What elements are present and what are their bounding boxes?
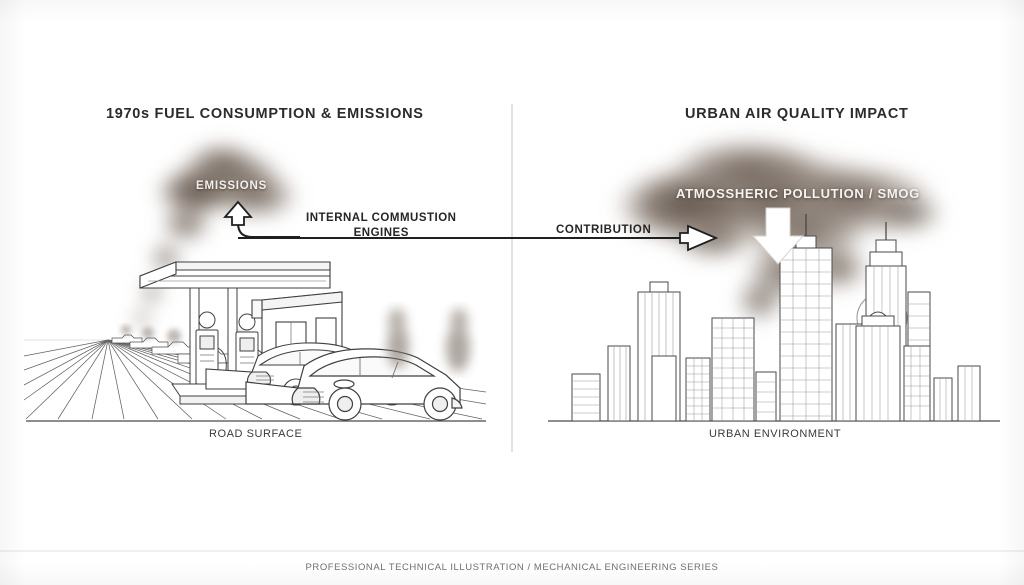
left-panel-title: 1970s FUEL CONSUMPTION & EMISSIONS [106,106,424,122]
right-panel-title: URBAN AIR QUALITY IMPACT [685,106,909,122]
right-scene [548,136,1000,421]
urban-environment-label: URBAN ENVIRONMENT [709,428,841,440]
footer-caption: PROFESSIONAL TECHNICAL ILLUSTRATION / ME… [0,562,1024,573]
contribution-label: CONTRIBUTION [556,224,651,236]
atmospheric-pollution-label: ATMOSSHERIC POLLUTION / SMOG [676,186,920,201]
gas-station-canopy [140,262,330,288]
exhaust-plumes [387,308,470,372]
diagram-svg [0,0,1024,585]
emissions-plume-label: EMISSIONS [196,180,267,192]
road-surface-label: ROAD SURFACE [209,428,302,440]
internal-combustion-engines-label: INTERNAL COMMUSTION ENGINES [306,211,456,241]
illustration-canvas: 1970s FUEL CONSUMPTION & EMISSIONS URBAN… [0,0,1024,585]
